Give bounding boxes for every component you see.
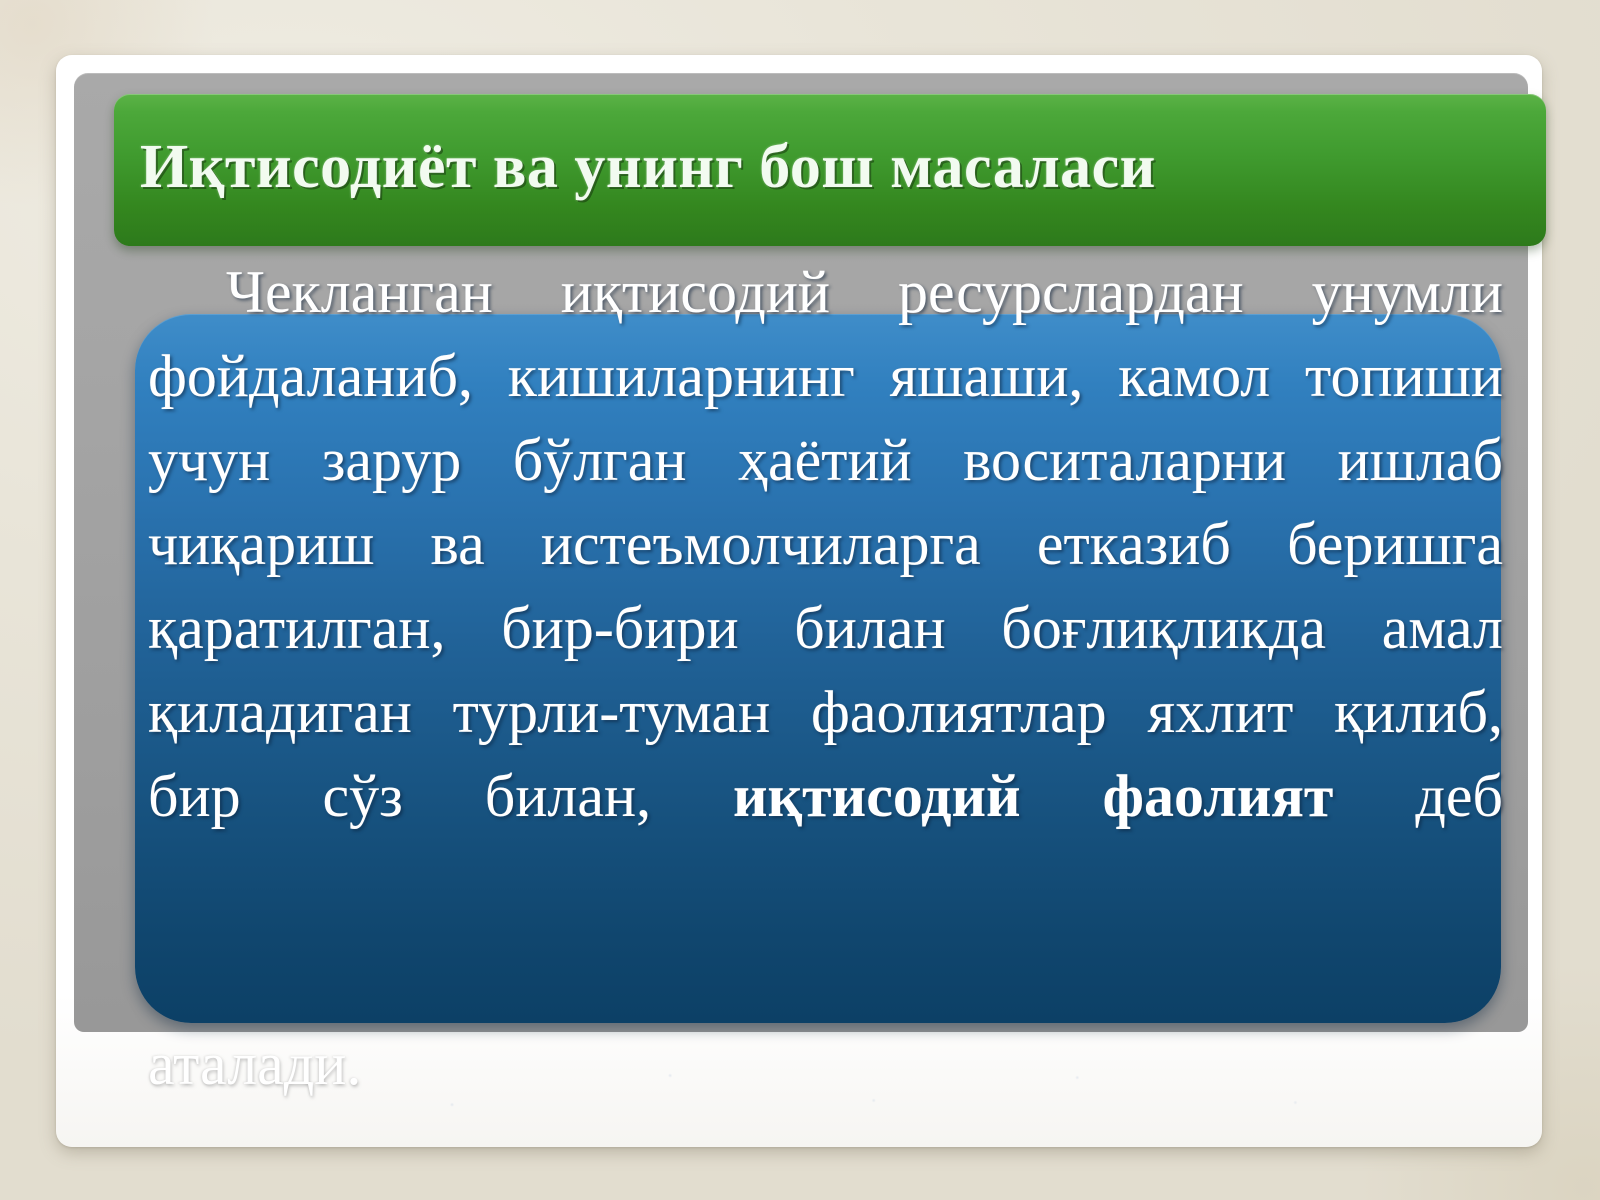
- body-text-emphasis: иқтисодий фаолият: [733, 763, 1333, 829]
- slide-title-banner: Иқтисодиёт ва унинг бош масаласи: [114, 94, 1546, 246]
- body-text-tail: аталади.: [148, 1022, 361, 1106]
- body-text-part-one: Чекланган иқтисодий ресурслардан унумли …: [148, 259, 1503, 829]
- presentation-slide: Иқтисодиёт ва унинг бош масаласи Чекланг…: [0, 0, 1600, 1200]
- body-text-part-two: деб: [1333, 763, 1503, 829]
- slide-body-text: Чекланган иқтисодий ресурслардан унумли …: [148, 250, 1503, 838]
- slide-title: Иқтисодиёт ва унинг бош масаласи: [114, 135, 1156, 204]
